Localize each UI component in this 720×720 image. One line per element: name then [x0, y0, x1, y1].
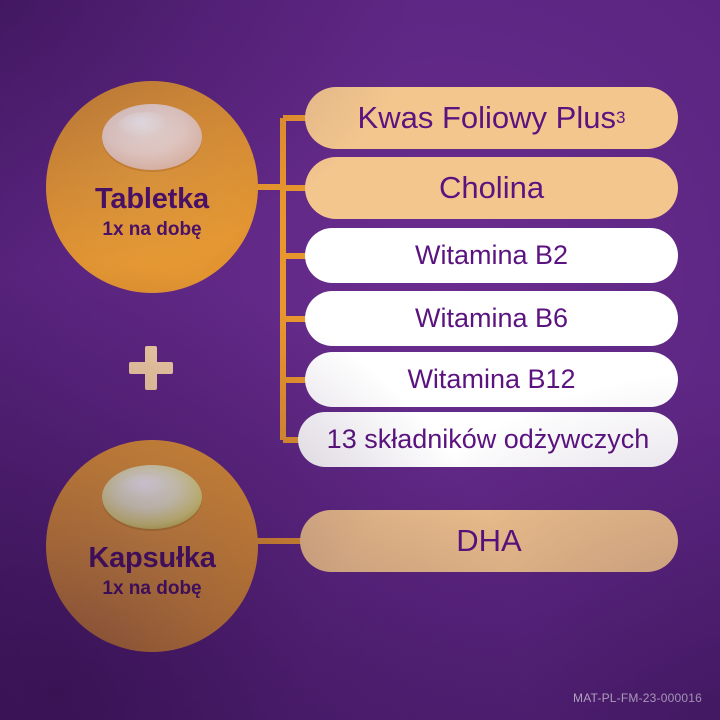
ingredient-label: DHA [456, 523, 521, 559]
material-code: MAT-PL-FM-23-000016 [573, 691, 702, 705]
ingredient-pill-13-skladnikow-odzywczych: 13 składników odżywczych [298, 412, 678, 467]
ingredient-pill-cholina: Cholina [305, 157, 678, 219]
supplement-composition-infographic: Tabletka 1x na dobę [0, 0, 720, 720]
dose-circle-kapsulka: Kapsułka 1x na dobę [46, 440, 258, 652]
dose-title-kapsulka: Kapsułka [88, 544, 215, 573]
ingredient-label: Witamina B6 [415, 303, 568, 334]
ingredient-label: Cholina [439, 170, 544, 206]
ingredient-pill-witamina-b2: Witamina B2 [305, 228, 678, 283]
plus-icon-vertical-bar [145, 346, 157, 390]
plus-icon [129, 346, 173, 390]
dose-subtitle-tabletka: 1x na dobę [102, 220, 201, 239]
softgel-capsule-icon [100, 462, 204, 532]
ingredient-label: Kwas Foliowy Plus [358, 100, 616, 136]
ingredient-pill-witamina-b6: Witamina B6 [305, 291, 678, 346]
ingredient-label: Witamina B12 [407, 364, 575, 395]
ingredient-pill-kwas-foliowy-plus: Kwas Foliowy Plus3 [305, 87, 678, 149]
dose-title-tabletka: Tabletka [95, 185, 209, 214]
dose-subtitle-kapsulka: 1x na dobę [102, 579, 201, 598]
tablet-icon [100, 103, 204, 173]
dose-circle-tabletka: Tabletka 1x na dobę [46, 81, 258, 293]
ingredient-label: 13 składników odżywczych [327, 424, 650, 455]
ingredient-pill-witamina-b12: Witamina B12 [305, 352, 678, 407]
ingredient-label: Witamina B2 [415, 240, 568, 271]
ingredient-pill-dha: DHA [300, 510, 678, 572]
